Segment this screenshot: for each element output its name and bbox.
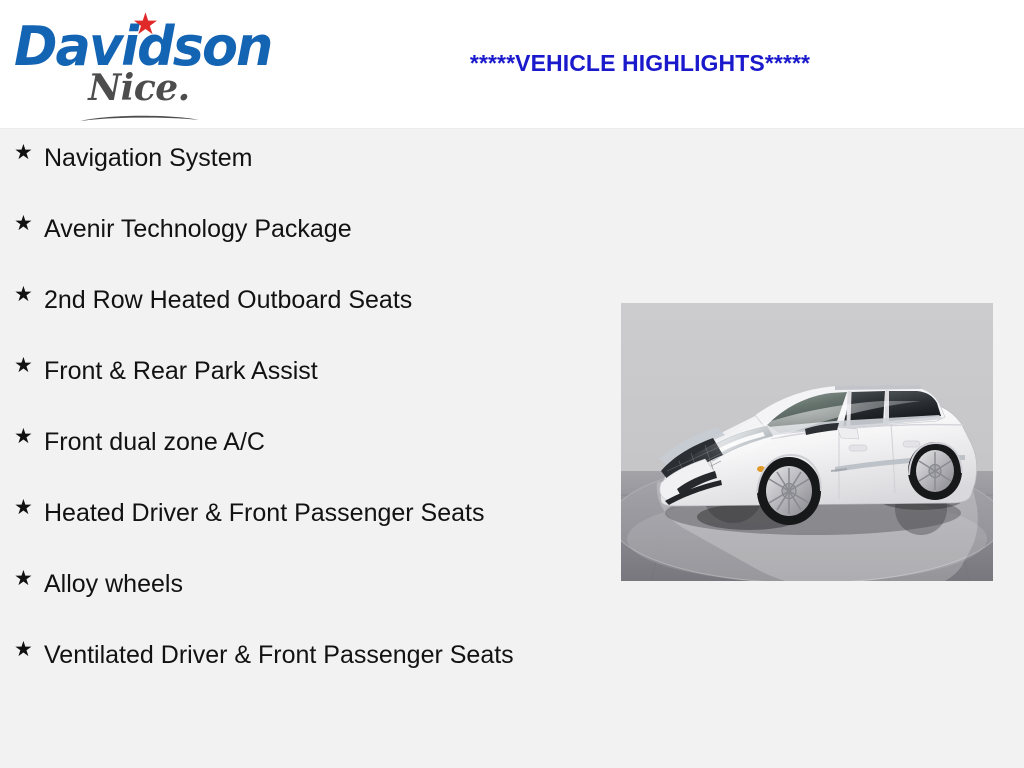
list-item-label: Front & Rear Park Assist xyxy=(44,342,539,389)
list-item-label: 2nd Row Heated Outboard Seats xyxy=(44,271,539,318)
swoosh-underline-icon xyxy=(78,112,200,123)
star-bullet-icon: ★ xyxy=(14,342,33,389)
star-bullet-icon: ★ xyxy=(14,626,33,673)
list-item: ★ Front dual zone A/C xyxy=(0,413,600,460)
star-bullet-icon: ★ xyxy=(14,200,33,247)
vehicle-photo[interactable] xyxy=(621,303,993,581)
list-item-label: Alloy wheels xyxy=(44,555,539,602)
star-icon: ★ xyxy=(132,10,159,40)
list-item-label: Avenir Technology Package xyxy=(44,200,539,247)
list-item-label: Ventilated Driver & Front Passenger Seat… xyxy=(44,626,539,673)
dealer-logo[interactable]: Davidson ★ Nice. xyxy=(14,8,264,120)
star-bullet-icon: ★ xyxy=(14,271,33,318)
star-bullet-icon: ★ xyxy=(14,555,33,602)
list-item: ★ 2nd Row Heated Outboard Seats xyxy=(0,271,600,318)
dealer-logo-subbrand: Nice. xyxy=(14,70,264,106)
list-item: ★ Navigation System xyxy=(0,129,600,176)
list-item: ★ Front & Rear Park Assist xyxy=(0,342,600,389)
list-item: ★ Ventilated Driver & Front Passenger Se… xyxy=(0,626,600,673)
star-bullet-icon: ★ xyxy=(14,129,33,176)
vehicle-photo-illustration xyxy=(621,303,993,581)
list-item-label: Navigation System xyxy=(44,129,539,176)
vehicle-highlights-list: ★ Navigation System ★ Avenir Technology … xyxy=(0,129,600,697)
star-bullet-icon: ★ xyxy=(14,484,33,531)
page-title: *****VEHICLE HIGHLIGHTS***** xyxy=(270,51,1010,76)
page-header: Davidson ★ Nice. *****VEHICLE HIGHLIGHTS… xyxy=(0,0,1024,129)
list-item-label: Heated Driver & Front Passenger Seats xyxy=(44,484,539,531)
list-item-label: Front dual zone A/C xyxy=(44,413,539,460)
list-item: ★ Heated Driver & Front Passenger Seats xyxy=(0,484,600,531)
star-bullet-icon: ★ xyxy=(14,413,33,460)
list-item: ★ Avenir Technology Package xyxy=(0,200,600,247)
list-item: ★ Alloy wheels xyxy=(0,555,600,602)
